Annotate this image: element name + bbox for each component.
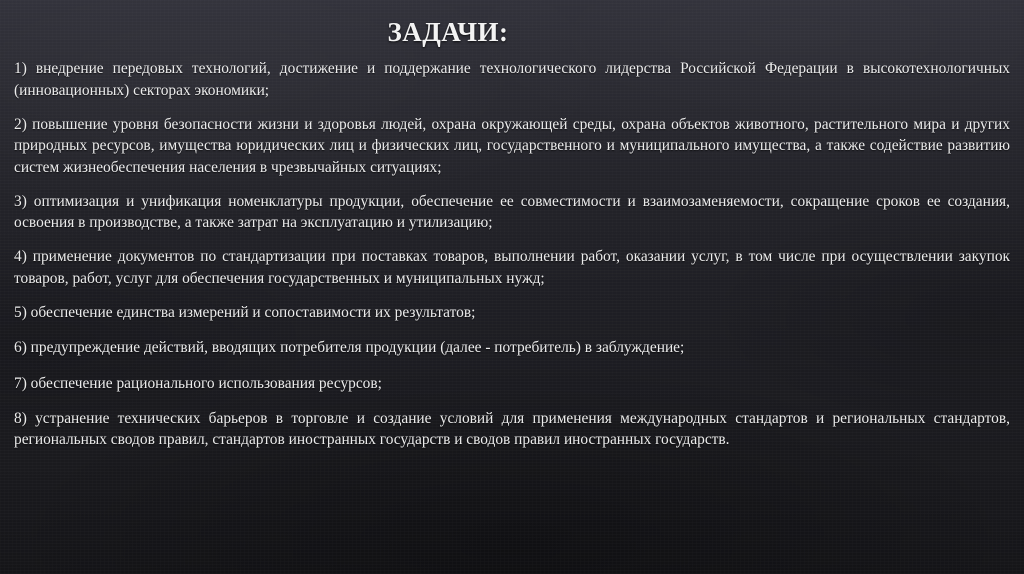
list-item: 1) внедрение передовых технологий, дости… [14, 58, 1010, 101]
presentation-slide: ЗАДАЧИ: 1) внедрение передовых технологи… [0, 0, 1024, 574]
list-item: 8) устранение технических барьеров в тор… [14, 408, 1010, 451]
list-item: 4) применение документов по стандартизац… [14, 246, 1010, 289]
list-item: 3) оптимизация и унификация номенклатуры… [14, 191, 1010, 234]
slide-content: ЗАДАЧИ: 1) внедрение передовых технологи… [0, 0, 1024, 451]
list-item: 5) обеспечение единства измерений и сопо… [14, 302, 1010, 323]
objectives-list: 1) внедрение передовых технологий, дости… [0, 46, 1024, 450]
list-item: 2) повышение уровня безопасности жизни и… [14, 114, 1010, 178]
page-title: ЗАДАЧИ: [0, 0, 1024, 46]
list-item: 6) предупреждение действий, вводящих пот… [14, 337, 1010, 358]
list-item: 7) обеспечение рационального использован… [14, 373, 1010, 394]
